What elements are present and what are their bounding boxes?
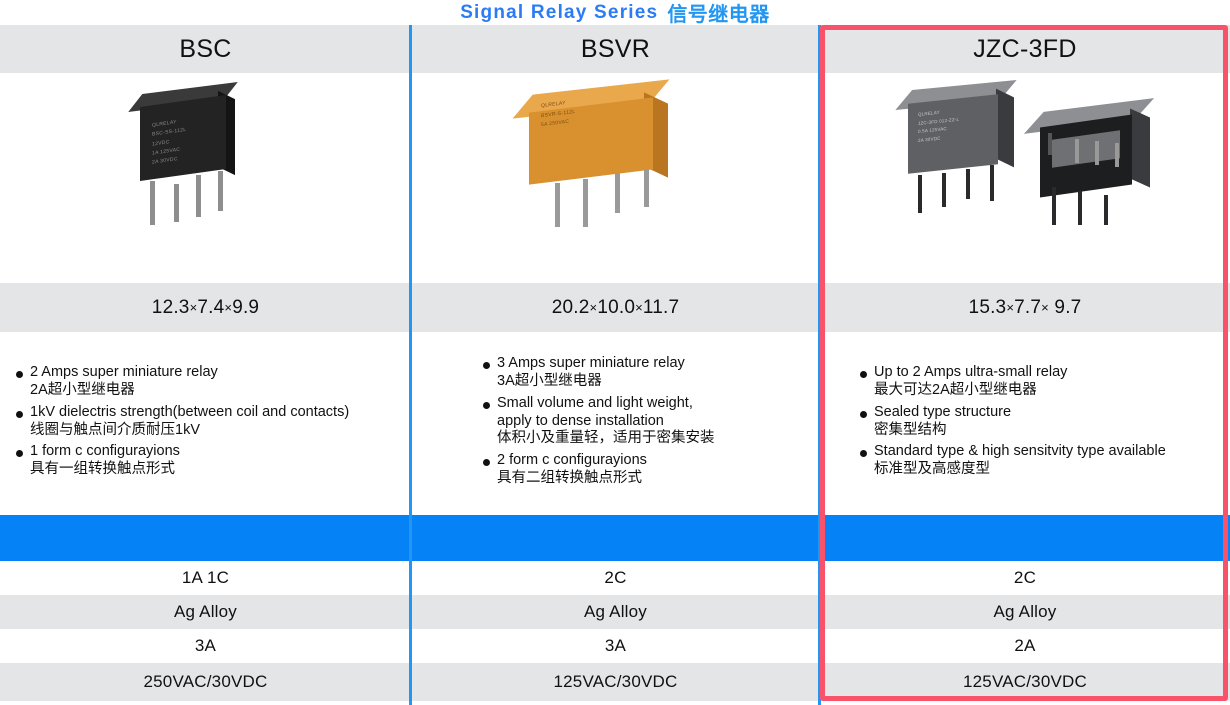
feature-item: 1kV dielectris strength(between coil and… [16,404,403,440]
model-header-jzc-3fd: JZC-3FD [820,25,1230,73]
bsvr-relay-photo: QLRELAYBSVR-S-112L5A 250VAC [511,91,701,251]
model-name-label: BSVR [581,35,650,64]
feature-item: Small volume and light weight, apply to … [483,395,812,449]
spec-rated-voltage-bsc: 250VAC/30VDC [0,663,411,701]
spec-value: 2A [1014,636,1035,656]
feature-text-cn: 具有二组转换触点形式 [497,470,647,488]
feature-text-cn: 标准型及高感度型 [874,461,1166,479]
feature-item: 1 form c configurayions 具有一组转换触点形式 [16,443,403,479]
spec-value: 2C [604,568,626,588]
feature-text-cn: 具有一组转换触点形式 [30,461,180,479]
spec-value: 125VAC/30VDC [963,672,1087,692]
bullet-dot-icon [860,450,867,457]
jzc3fd-relay-photo: QLRELAYJZC-3FD 012-ZZ-L0.5A 125VAC2A 30V… [900,83,1170,253]
spec-value: Ag Alloy [174,602,237,622]
spec-value: Ag Alloy [584,602,647,622]
spec-rated-current-bsc: 3A [0,629,411,663]
section-separator-bar [820,515,1230,561]
spec-value: 125VAC/30VDC [554,672,678,692]
spec-value: 3A [195,636,216,656]
feature-item: Standard type & high sensitvity type ava… [860,443,1222,479]
feature-text-cn: 3A超小型继电器 [497,373,685,391]
comparison-grid: BSC QLRELAYBSC-SS-112L12VDC1A 125VAC2A 3… [0,25,1230,705]
product-image-jzc-3fd: QLRELAYJZC-3FD 012-ZZ-L0.5A 125VAC2A 30V… [820,73,1230,283]
model-header-bsvr: BSVR [411,25,820,73]
spec-rated-voltage-jzc-3fd: 125VAC/30VDC [820,663,1230,701]
page-title: Signal Relay Series 信号继电器 [0,0,1230,25]
spec-contact-arrangement-bsvr: 2C [411,561,820,595]
spec-rated-voltage-bsvr: 125VAC/30VDC [411,663,820,701]
dimensions-cell-bsc: 12.3×7.4×9.9 [0,283,411,332]
section-separator-bar [411,515,820,561]
product-column-jzc-3fd[interactable]: JZC-3FD QLRELAYJZC-3FD 012-ZZ-L0.5A 125V… [820,25,1230,705]
feature-text-cn: 2A超小型继电器 [30,382,218,400]
feature-text-en: Small volume and light weight, [497,395,715,413]
feature-text-en: 2 Amps super miniature relay [30,364,218,382]
bullet-dot-icon [483,459,490,466]
feature-item: Sealed type structure 密集型结构 [860,404,1222,440]
spec-rated-current-jzc-3fd: 2A [820,629,1230,663]
dimensions-label: 12.3×7.4×9.9 [152,297,259,319]
product-image-bsc: QLRELAYBSC-SS-112L12VDC1A 125VAC2A 30VDC [0,73,411,283]
product-image-bsvr: QLRELAYBSVR-S-112L5A 250VAC [411,73,820,283]
bullet-dot-icon [483,402,490,409]
spec-contact-arrangement-jzc-3fd: 2C [820,561,1230,595]
page-title-chinese: 信号继电器 [667,0,770,27]
spec-contact-material-jzc-3fd: Ag Alloy [820,595,1230,629]
dimensions-cell-jzc-3fd: 15.3×7.7× 9.7 [820,283,1230,332]
feature-text-cn: 体积小及重量轻，适用于密集安装 [497,430,715,448]
dimensions-cell-bsvr: 20.2×10.0×11.7 [411,283,820,332]
feature-item: 2 form c configurayions 具有二组转换触点形式 [483,452,812,488]
spec-value: 3A [605,636,626,656]
feature-item: Up to 2 Amps ultra-small relay 最大可达2A超小型… [860,364,1222,400]
dimensions-label: 20.2×10.0×11.7 [552,297,680,319]
feature-item: 3 Amps super miniature relay 3A超小型继电器 [483,355,812,391]
spec-rated-current-bsvr: 3A [411,629,820,663]
model-name-label: BSC [179,35,231,64]
feature-text-en: Sealed type structure [874,404,1011,422]
spec-value: 1A 1C [182,568,229,588]
product-column-bsc[interactable]: BSC QLRELAYBSC-SS-112L12VDC1A 125VAC2A 3… [0,25,411,705]
model-header-bsc: BSC [0,25,411,73]
spec-contact-material-bsvr: Ag Alloy [411,595,820,629]
column-divider-2 [818,25,821,705]
section-separator-bar [0,515,411,561]
bullet-dot-icon [16,411,23,418]
spec-value: 2C [1014,568,1036,588]
features-cell-bsc: 2 Amps super miniature relay 2A超小型继电器 1k… [0,332,411,515]
feature-text-en: 3 Amps super miniature relay [497,355,685,373]
page-title-english: Signal Relay Series [460,2,658,24]
feature-text-en: Up to 2 Amps ultra-small relay [874,364,1067,382]
feature-text-en: Standard type & high sensitvity type ava… [874,443,1166,461]
bullet-dot-icon [860,371,867,378]
bullet-dot-icon [483,362,490,369]
bsc-relay-photo: QLRELAYBSC-SS-112L12VDC1A 125VAC2A 30VDC [118,95,258,245]
spec-value: 250VAC/30VDC [144,672,268,692]
feature-text-en-line2: apply to dense installation [497,413,715,431]
signal-relay-comparison-page: Signal Relay Series 信号继电器 BSC QLRELAYBSC… [0,0,1230,705]
feature-item: 2 Amps super miniature relay 2A超小型继电器 [16,364,403,400]
bullet-dot-icon [860,411,867,418]
spec-value: Ag Alloy [993,602,1056,622]
product-column-bsvr[interactable]: BSVR QLRELAYBSVR-S-112L5A 250VAC [411,25,820,705]
features-cell-bsvr: 3 Amps super miniature relay 3A超小型继电器 Sm… [411,332,820,515]
bullet-dot-icon [16,371,23,378]
feature-text-cn: 密集型结构 [874,422,1011,440]
feature-text-en: 2 form c configurayions [497,452,647,470]
feature-text-en: 1kV dielectris strength(between coil and… [30,404,349,422]
spec-contact-arrangement-bsc: 1A 1C [0,561,411,595]
model-name-label: JZC-3FD [973,35,1076,64]
column-divider-1 [409,25,412,705]
feature-text-cn: 最大可达2A超小型继电器 [874,382,1067,400]
dimensions-label: 15.3×7.7× 9.7 [969,297,1082,319]
feature-text-cn: 线圈与触点间介质耐压1kV [30,422,349,440]
feature-text-en: 1 form c configurayions [30,443,180,461]
spec-contact-material-bsc: Ag Alloy [0,595,411,629]
bullet-dot-icon [16,450,23,457]
features-cell-jzc-3fd: Up to 2 Amps ultra-small relay 最大可达2A超小型… [820,332,1230,515]
